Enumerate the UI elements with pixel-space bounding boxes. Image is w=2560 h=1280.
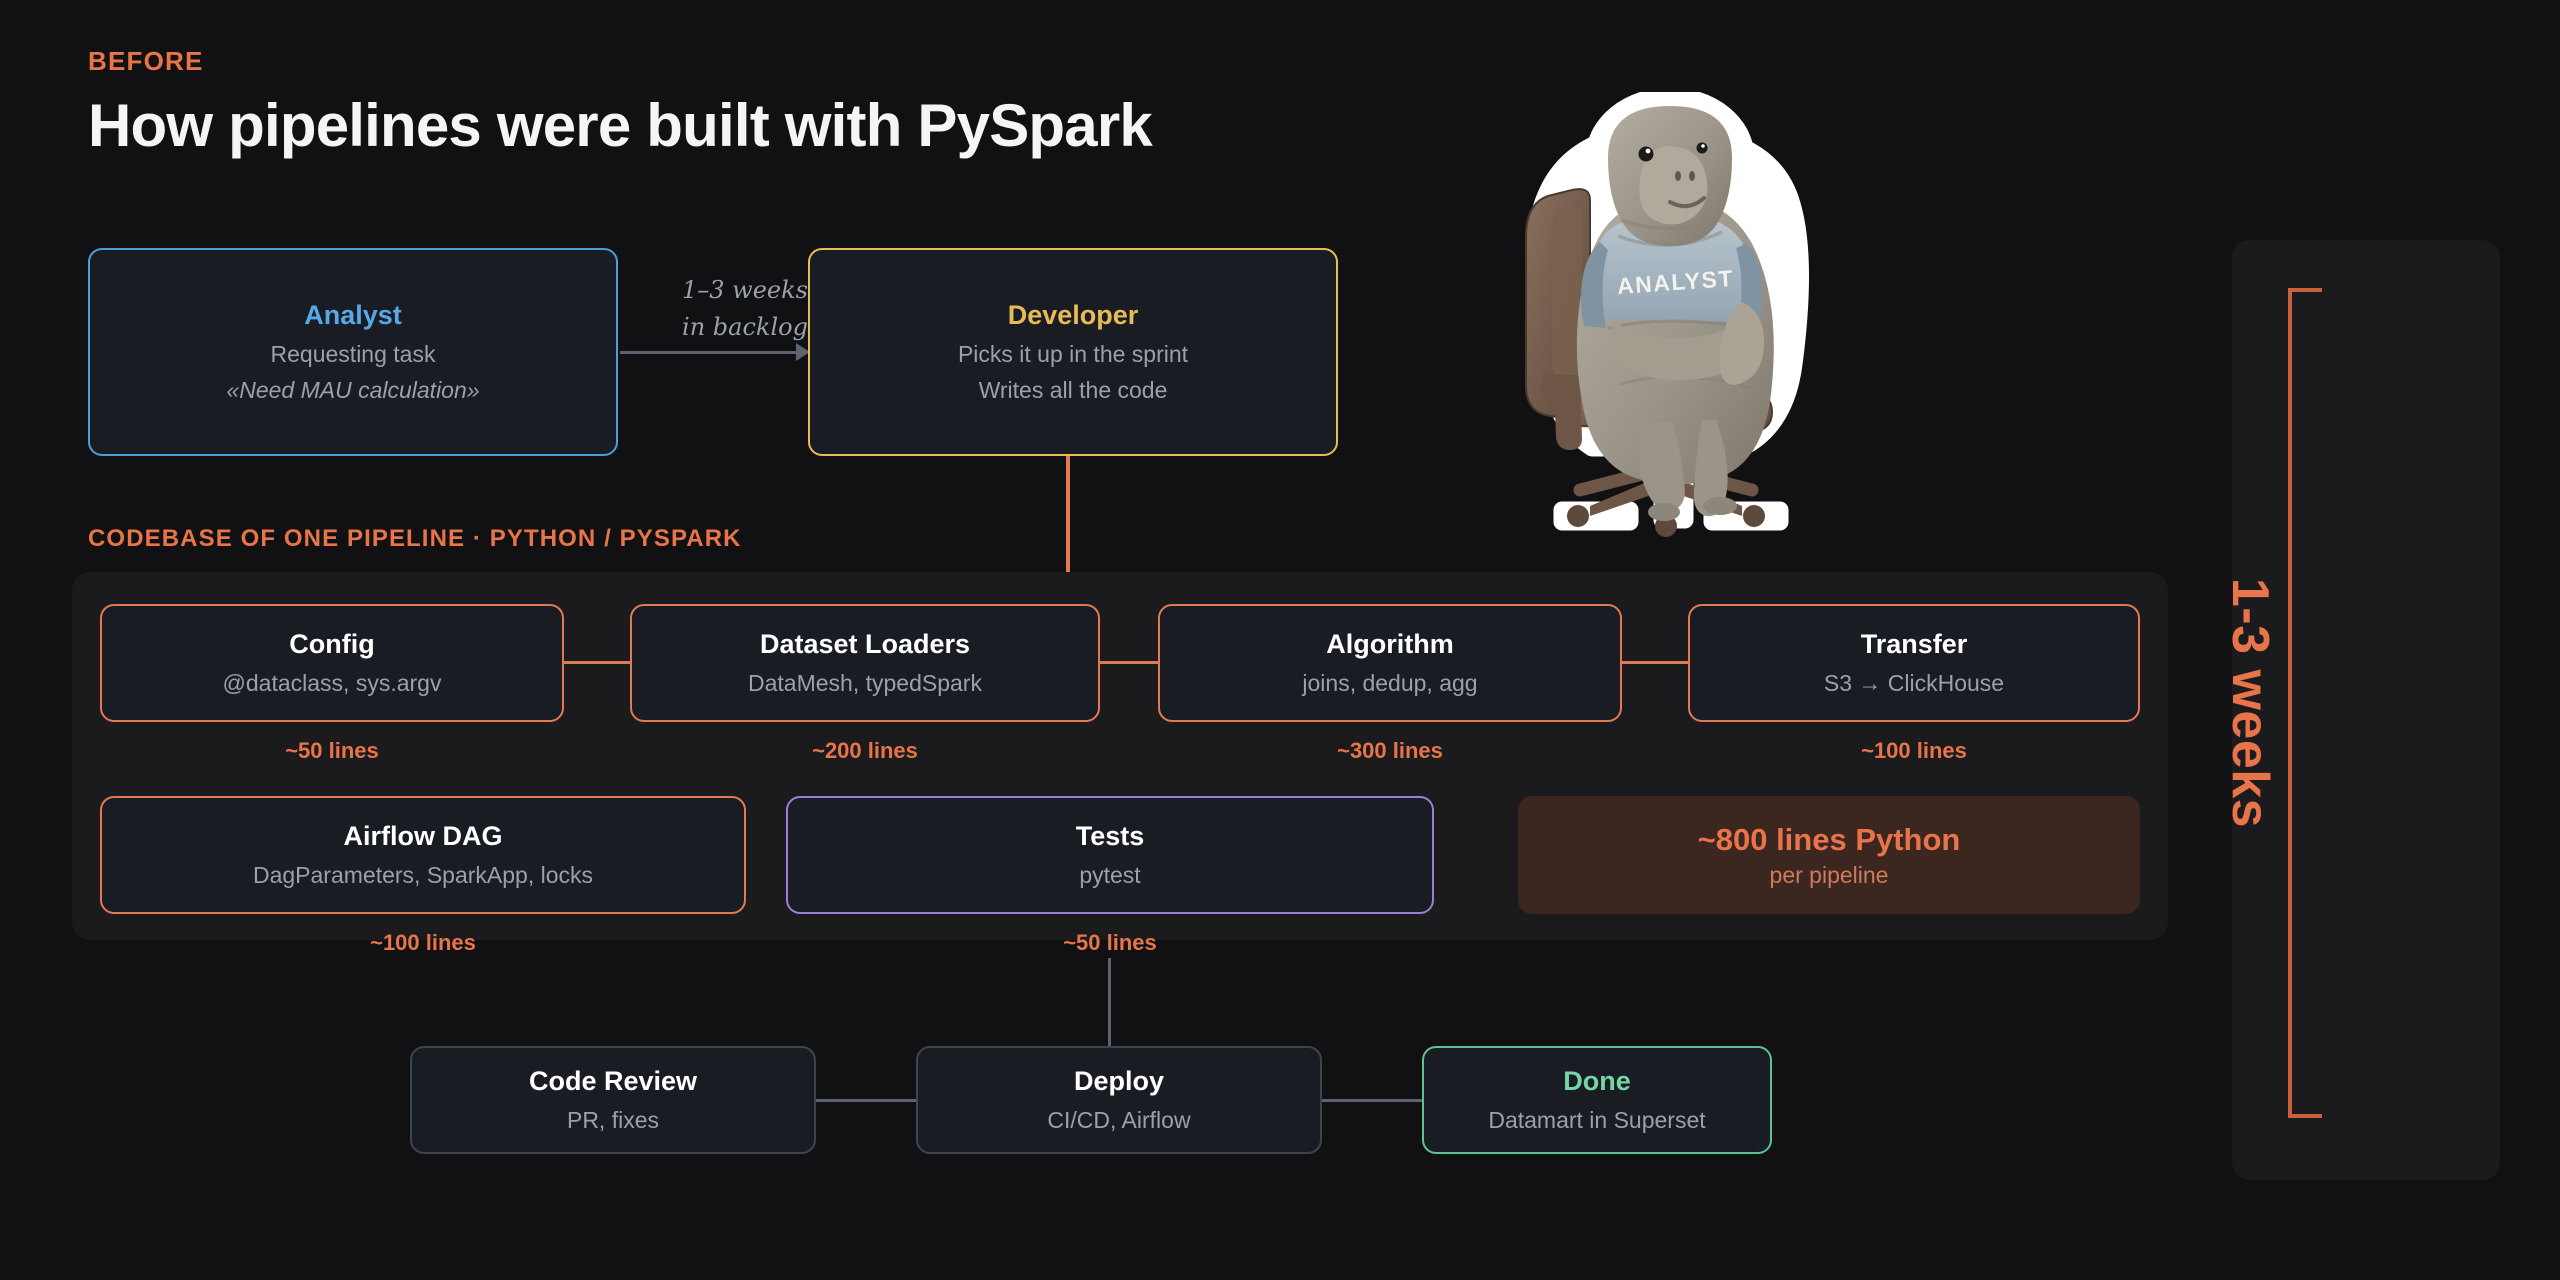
connector-algorithm-transfer bbox=[1622, 661, 1688, 664]
node-tests-title: Tests bbox=[1076, 820, 1145, 854]
node-done-sub: Datamart in Superset bbox=[1488, 1105, 1705, 1135]
node-airflow-dag[interactable]: Airflow DAG DagParameters, SparkApp, loc… bbox=[100, 796, 746, 914]
arrow-analyst-to-developer bbox=[620, 340, 810, 364]
connector-config-loaders bbox=[564, 661, 630, 664]
node-developer-sub2: Writes all the code bbox=[979, 375, 1168, 405]
node-deploy[interactable]: Deploy CI/CD, Airflow bbox=[916, 1046, 1322, 1154]
lines-caption-algorithm: ~300 lines bbox=[1158, 738, 1622, 764]
node-deploy-title: Deploy bbox=[1074, 1065, 1164, 1099]
node-algorithm[interactable]: Algorithm joins, dedup, agg bbox=[1158, 604, 1622, 722]
lines-caption-tests: ~50 lines bbox=[786, 930, 1434, 956]
node-transfer[interactable]: Transfer S3 → ClickHouse bbox=[1688, 604, 2140, 722]
mascot-zhdun-analyst: ANALYST bbox=[1480, 92, 1860, 572]
node-config-sub: @dataclass, sys.argv bbox=[223, 668, 442, 698]
node-developer-title: Developer bbox=[1008, 299, 1139, 333]
page-title: How pipelines were built with PySpark bbox=[88, 94, 1152, 157]
node-developer[interactable]: Developer Picks it up in the sprint Writ… bbox=[808, 248, 1338, 456]
connector-tests-to-deploy bbox=[1108, 958, 1111, 1046]
duration-label: 1-3 weeks bbox=[2190, 288, 2310, 1118]
connector-developer-to-codebase bbox=[1066, 456, 1070, 572]
node-config-title: Config bbox=[289, 628, 374, 662]
node-dataset-loaders-title: Dataset Loaders bbox=[760, 628, 970, 662]
total-lines-value: ~800 lines Python bbox=[1698, 821, 1961, 858]
node-done[interactable]: Done Datamart in Superset bbox=[1422, 1046, 1772, 1154]
node-dataset-loaders[interactable]: Dataset Loaders DataMesh, typedSpark bbox=[630, 604, 1100, 722]
node-deploy-sub: CI/CD, Airflow bbox=[1047, 1105, 1190, 1135]
node-analyst[interactable]: Analyst Requesting task «Need MAU calcul… bbox=[88, 248, 618, 456]
node-analyst-sub1: Requesting task bbox=[271, 339, 436, 369]
connector-loaders-algorithm bbox=[1100, 661, 1158, 664]
page-header: BEFORE How pipelines were built with PyS… bbox=[88, 48, 1152, 157]
node-code-review[interactable]: Code Review PR, fixes bbox=[410, 1046, 816, 1154]
arrow-line bbox=[620, 351, 798, 354]
node-algorithm-sub: joins, dedup, agg bbox=[1302, 668, 1477, 698]
node-transfer-sub: S3 → ClickHouse bbox=[1824, 668, 2004, 698]
node-algorithm-title: Algorithm bbox=[1326, 628, 1454, 662]
node-total-lines: ~800 lines Python per pipeline bbox=[1518, 796, 2140, 914]
lines-caption-transfer: ~100 lines bbox=[1688, 738, 2140, 764]
node-tests-sub: pytest bbox=[1079, 860, 1140, 890]
node-code-review-title: Code Review bbox=[529, 1065, 697, 1099]
node-done-title: Done bbox=[1563, 1065, 1631, 1099]
connector-review-deploy bbox=[816, 1099, 916, 1102]
node-analyst-title: Analyst bbox=[304, 299, 402, 333]
node-airflow-dag-title: Airflow DAG bbox=[344, 820, 503, 854]
codebase-section-label: CODEBASE OF ONE PIPELINE · PYTHON / PYSP… bbox=[88, 525, 742, 553]
lines-caption-airflow-dag: ~100 lines bbox=[100, 930, 746, 956]
node-code-review-sub: PR, fixes bbox=[567, 1105, 659, 1135]
total-lines-unit: per pipeline bbox=[1770, 862, 1889, 889]
lines-caption-dataset-loaders: ~200 lines bbox=[630, 738, 1100, 764]
node-transfer-title: Transfer bbox=[1861, 628, 1968, 662]
node-tests[interactable]: Tests pytest bbox=[786, 796, 1434, 914]
node-dataset-loaders-sub: DataMesh, typedSpark bbox=[748, 668, 982, 698]
connector-deploy-done bbox=[1322, 1099, 1422, 1102]
node-developer-sub1: Picks it up in the sprint bbox=[958, 339, 1188, 369]
kicker-label: BEFORE bbox=[88, 48, 1152, 74]
node-analyst-sub2: «Need MAU calculation» bbox=[226, 375, 479, 405]
node-config[interactable]: Config @dataclass, sys.argv bbox=[100, 604, 564, 722]
node-airflow-dag-sub: DagParameters, SparkApp, locks bbox=[253, 860, 593, 890]
lines-caption-config: ~50 lines bbox=[100, 738, 564, 764]
